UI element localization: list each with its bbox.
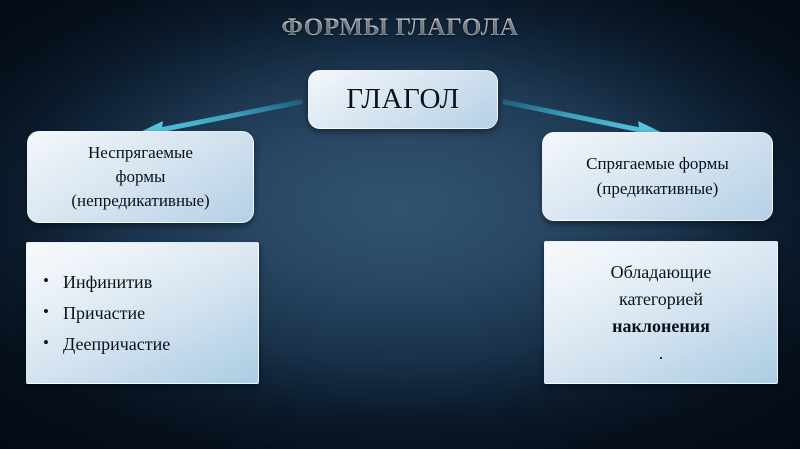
node-conjugated-desc-line-3: наклонения.	[611, 313, 712, 367]
node-conjugated-desc-keyword: наклонения	[611, 313, 712, 340]
node-conjugated-desc-line-1: Обладающие	[611, 259, 712, 286]
node-nonconjugated-line-3: (непредикативные)	[71, 189, 209, 213]
node-nonconjugated-line-2: формы	[71, 165, 209, 189]
node-conjugated-description[interactable]: Обладающие категорией наклонения.	[544, 241, 778, 384]
node-nonconjugated-line-1: Неспрягаемые	[71, 141, 209, 165]
node-conjugated-line-1: Спрягаемые формы	[586, 152, 729, 176]
node-conjugated-desc-line-2: категорией	[611, 286, 712, 313]
node-conjugated-line-2: (предикативные)	[586, 177, 729, 201]
node-conjugated-desc-period: .	[611, 340, 712, 367]
list-item: Инфинитив	[41, 269, 170, 296]
node-nonconjugated-list[interactable]: Инфинитив Причастие Деепричастие	[26, 242, 259, 384]
list-item: Деепричастие	[41, 331, 170, 358]
node-conjugated-forms[interactable]: Спрягаемые формы (предикативные)	[542, 132, 773, 221]
node-nonconjugated-forms[interactable]: Неспрягаемые формы (непредикативные)	[27, 131, 254, 223]
page-title: ФОРМЫ ГЛАГОЛА	[0, 14, 800, 42]
slide-canvas: ФОРМЫ ГЛАГОЛА ГЛАГОЛ	[0, 0, 800, 449]
node-verb-root-label: ГЛАГОЛ	[346, 83, 459, 116]
nonconjugated-forms-list: Инфинитив Причастие Деепричастие	[41, 265, 170, 362]
node-verb-root[interactable]: ГЛАГОЛ	[308, 70, 498, 129]
list-item: Причастие	[41, 300, 170, 327]
